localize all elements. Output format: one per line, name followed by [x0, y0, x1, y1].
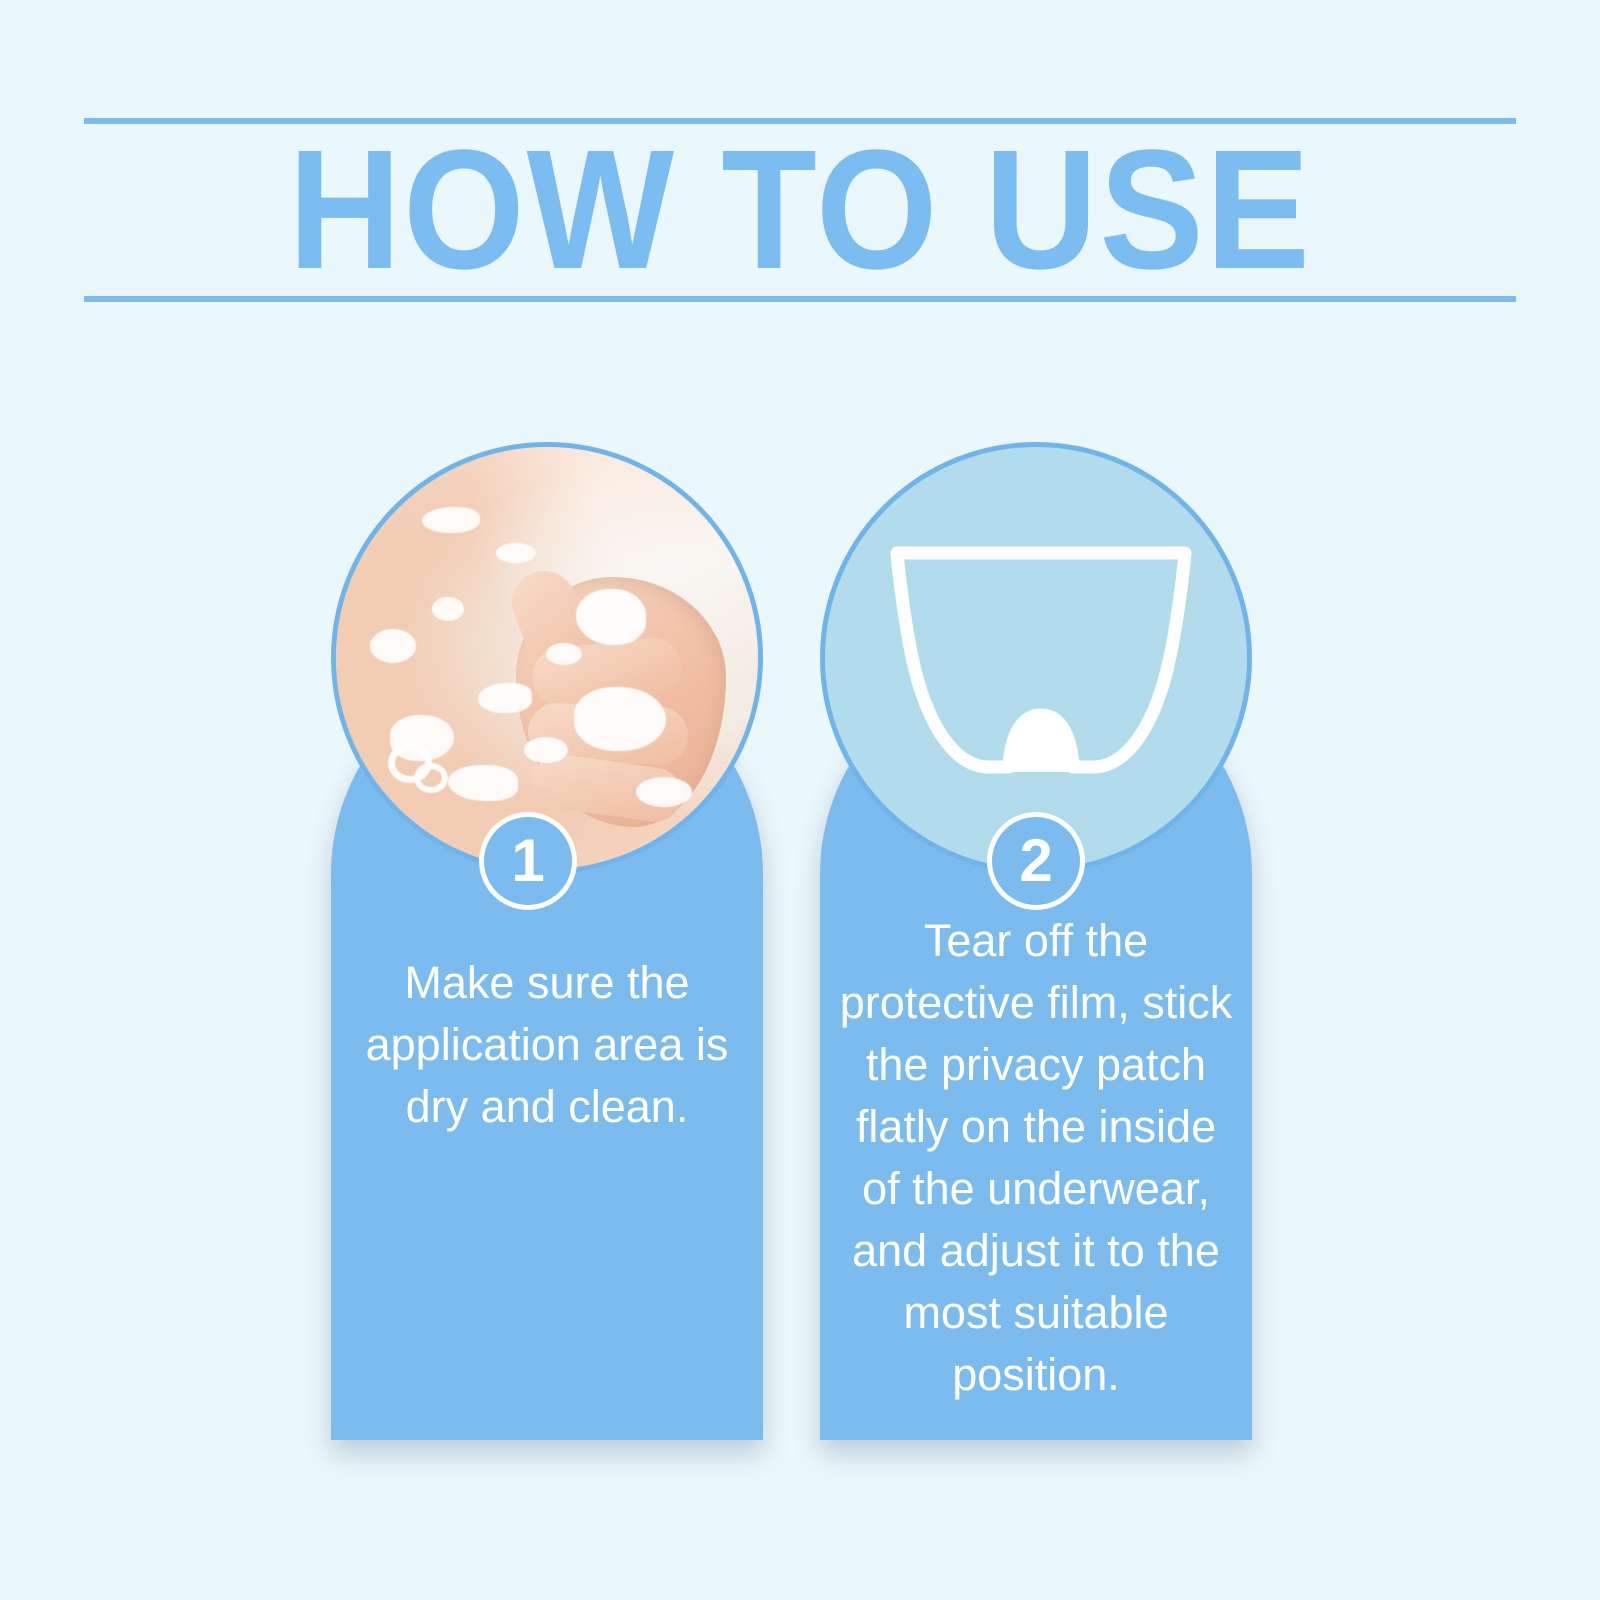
foam-bubble: [636, 777, 692, 807]
foam-bubble: [576, 589, 646, 645]
underwear-icon: [825, 447, 1252, 874]
foam-ring: [414, 763, 448, 793]
foam-bubble: [370, 629, 416, 663]
step-1-media-circle: [331, 442, 763, 874]
foam-bubble: [524, 737, 568, 763]
foam-bubble: [546, 643, 582, 665]
step-1-number-badge: 1: [479, 812, 577, 910]
steps-container: 1 Make sure the application area is dry …: [0, 0, 1600, 1600]
step-1-caption: Make sure the application area is dry an…: [345, 952, 749, 1138]
foam-bubble: [496, 543, 536, 563]
infographic-page: HOW TO USE: [0, 0, 1600, 1600]
step-2-media-circle: [820, 442, 1252, 874]
washing-photo: [336, 447, 758, 869]
foam-bubble: [478, 683, 532, 713]
step-2-number-badge: 2: [987, 812, 1085, 910]
step-2-caption: Tear off the protective film, stick the …: [834, 910, 1238, 1406]
foam-bubble: [432, 597, 464, 621]
foam-bubble: [574, 687, 666, 751]
foam-bubble: [448, 765, 518, 801]
foam-bubble: [422, 507, 480, 533]
